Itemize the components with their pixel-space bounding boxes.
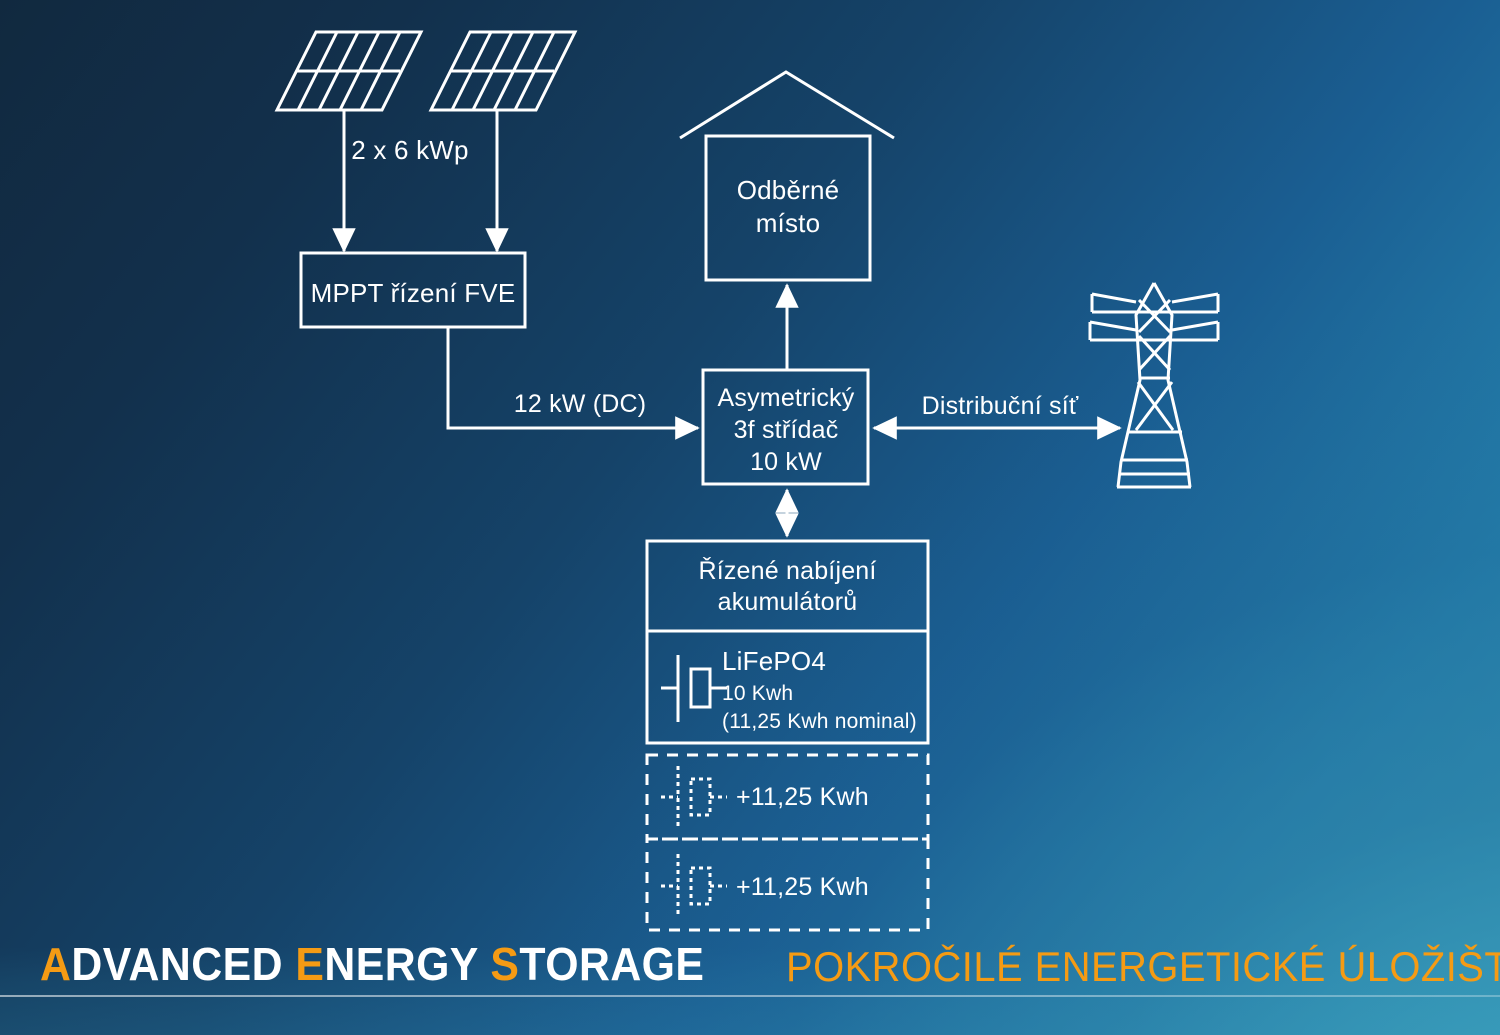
inverter-label-line1: Asymetrický — [700, 383, 872, 414]
banner-title-english: ADVANCED ENERGY STORAGE — [40, 937, 704, 991]
banner-title-czech: POKROČILÉ ENERGETICKÉ ÚLOŽIŠTĚ — [786, 943, 1500, 991]
transmission-tower-icon — [1090, 283, 1218, 487]
battery-cell-icon-exp-2 — [661, 854, 727, 918]
battery-cell-icon-exp-1 — [661, 766, 727, 829]
house-label-line2: místo — [706, 207, 870, 240]
dc-link-label: 12 kW (DC) — [470, 389, 690, 420]
battery-pack-capacity: 10 Kwh — [722, 681, 793, 707]
inverter-label-line3: 10 kW — [700, 447, 872, 478]
bottom-banner: ADVANCED ENERGY STORAGE POKROČILÉ ENERGE… — [0, 947, 1500, 1035]
battery-expansion-label-2: +11,25 Kwh — [736, 872, 869, 903]
inverter-label-line2: 3f střídač — [700, 415, 872, 446]
mppt-label: MPPT řízení FVE — [301, 277, 525, 310]
battery-pack-name: LiFePO4 — [722, 645, 826, 678]
banner-divider — [0, 995, 1500, 997]
grid-link-label: Distribuční síť — [880, 391, 1120, 422]
battery-cell-icon-main — [661, 655, 727, 722]
battery-expansion-label-1: +11,25 Kwh — [736, 782, 869, 813]
slide-canvas: 2 x 6 kWp MPPT řízení FVE 12 kW (DC) Odb… — [0, 0, 1500, 1035]
panels-capacity-label: 2 x 6 kWp — [300, 134, 520, 167]
charger-label-line1: Řízené nabíjení — [647, 556, 928, 587]
battery-pack-nominal: (11,25 Kwh nominal) — [722, 709, 917, 735]
house-label-line1: Odběrné — [706, 174, 870, 207]
charger-label-line2: akumulátorů — [647, 587, 928, 618]
